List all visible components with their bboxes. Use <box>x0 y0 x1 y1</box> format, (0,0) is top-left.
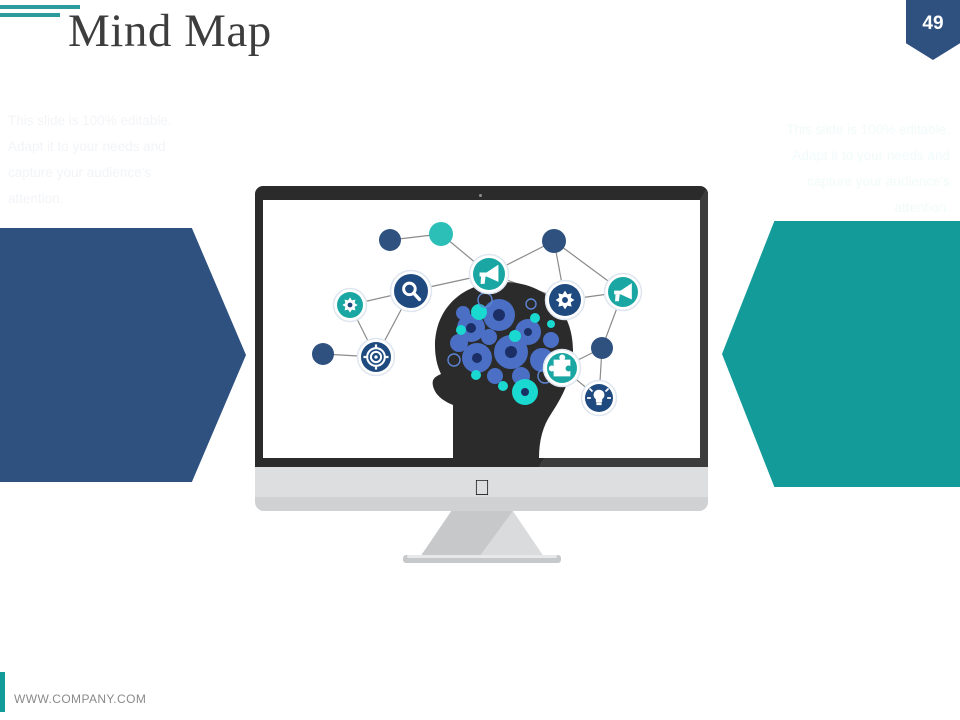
node-disc <box>312 343 334 365</box>
node-disc <box>379 229 401 251</box>
footer-accent-bar <box>0 672 5 712</box>
mindmap-node-n5[interactable] <box>605 274 642 311</box>
mind-map-illustration <box>263 200 700 458</box>
mindmap-node-n7[interactable] <box>391 271 432 312</box>
monitor-base-highlight <box>407 555 557 558</box>
slide-number-text: 49 <box>906 13 960 35</box>
node-disc <box>591 337 613 359</box>
panel-left-title: Mind Mapping 1 <box>8 68 208 91</box>
panel-mind-mapping-1[interactable] <box>0 228 246 482</box>
apple-logo-icon:  <box>472 477 492 501</box>
footer-url: WWW.COMPANY.COM <box>14 692 146 706</box>
monitor-screen <box>263 200 700 458</box>
mindmap-node-n10[interactable] <box>312 343 334 365</box>
mindmap-node-n1[interactable] <box>379 229 401 251</box>
title-rule-short <box>0 13 60 17</box>
panel-mind-mapping-2[interactable] <box>722 221 960 487</box>
mindmap-node-n2[interactable] <box>429 222 453 246</box>
gear-icon <box>556 291 575 310</box>
imac-monitor-graphic:  <box>255 186 710 561</box>
node-disc <box>394 274 428 308</box>
mindmap-node-n11[interactable] <box>544 350 581 387</box>
panel-right-title: Mind Mapping 2 <box>760 78 950 101</box>
gear-icon <box>342 297 357 312</box>
page-title: Mind Map <box>68 4 272 58</box>
mindmap-node-n6[interactable] <box>546 281 585 320</box>
node-disc <box>542 229 566 253</box>
mindmap-node-n3[interactable] <box>470 255 509 294</box>
panel-left-body: This slide is 100% editable. Adapt it to… <box>8 108 204 212</box>
slide-canvas: Mind Map 49 Mind Mapping 1 This slide is… <box>0 0 960 720</box>
mindmap-node-n12[interactable] <box>591 337 613 359</box>
node-disc <box>429 222 453 246</box>
mindmap-node-n8[interactable] <box>334 289 367 322</box>
panel-right-body: This slide is 100% editable. Adapt it to… <box>760 117 950 221</box>
mindmap-node-n13[interactable] <box>582 381 617 416</box>
monitor-camera-icon <box>479 194 482 197</box>
mindmap-node-n9[interactable] <box>358 339 395 376</box>
slide-number-badge: 49 <box>906 0 960 60</box>
mindmap-node-n4[interactable] <box>542 229 566 253</box>
